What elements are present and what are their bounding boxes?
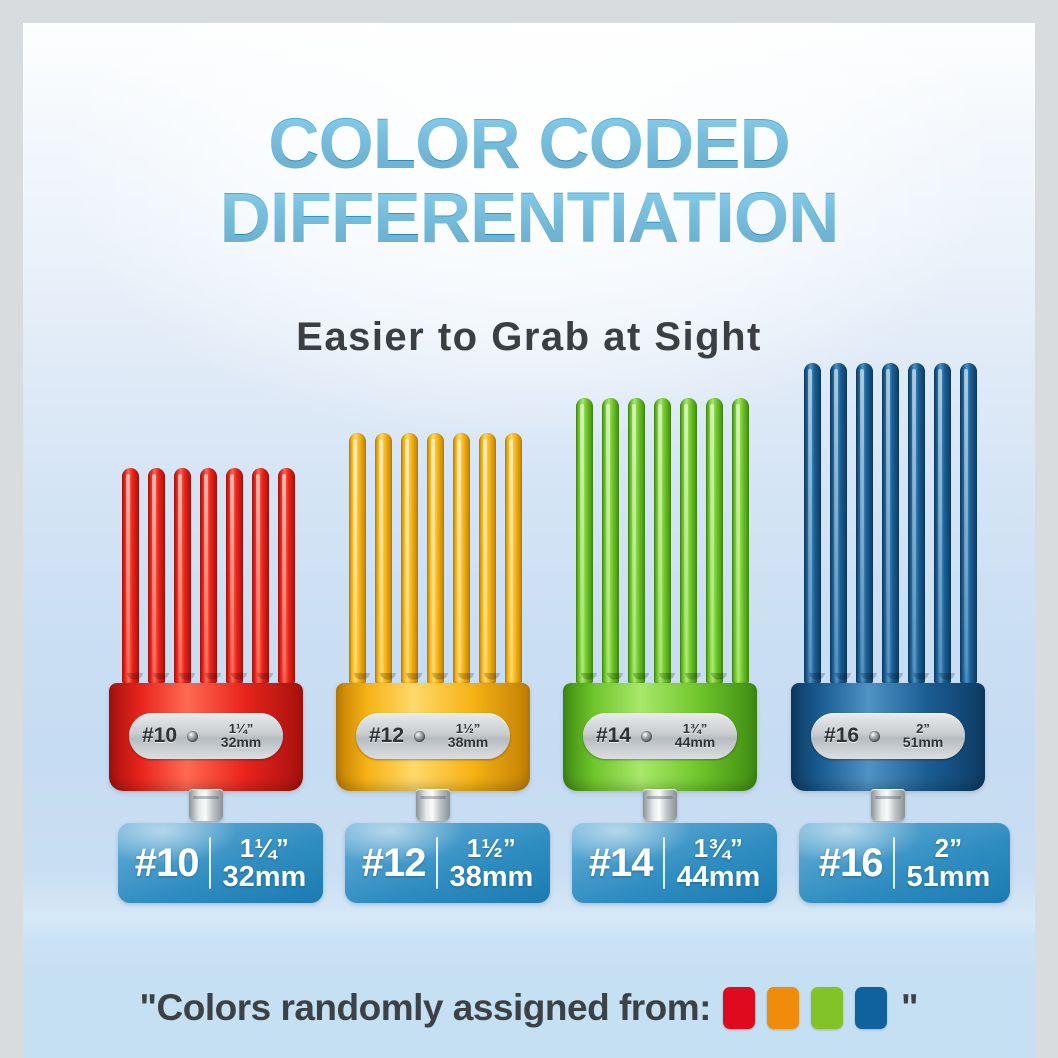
headline-line-2: DIFFERENTIATION [23, 185, 1035, 253]
badge-size-mm: 32mm [222, 863, 306, 892]
comb-tooth [856, 363, 873, 683]
comb-lineup: #101¼”32mm#121½”38mm#141¾”44mm#162”51mm [23, 373, 1035, 823]
badge-divider [436, 837, 438, 889]
badge-size-inches: 1¼” [222, 835, 306, 861]
badge-number: #10 [135, 841, 199, 886]
badge-size-inches: 1¾” [676, 835, 760, 861]
product-feature-poster: COLOR CODED DIFFERENTIATION Easier to Gr… [23, 23, 1035, 1058]
comb-metal-clip [416, 789, 450, 821]
badge-size-mm: 44mm [676, 863, 760, 892]
rivet-icon [187, 731, 198, 742]
comb-tooth [200, 468, 217, 683]
comb-teeth [336, 433, 530, 683]
badge-size-inches: 1½” [449, 835, 533, 861]
comb-tooth [349, 433, 366, 683]
comb-tooth [908, 363, 925, 683]
badge-size-inches: 2” [906, 835, 990, 861]
rivet-icon [641, 731, 652, 742]
comb-tooth [576, 398, 593, 683]
plate-number: #10 [142, 724, 177, 748]
plate-size-inches: 2” [889, 722, 957, 735]
comb-teeth [109, 468, 303, 683]
comb-base-block: #162”51mm [791, 683, 985, 791]
comb-metal-clip [643, 789, 677, 821]
size-badge-12[interactable]: #121½”38mm [345, 823, 550, 903]
plate-size-inches: 1¾” [661, 722, 729, 735]
plate-size: 1¾”44mm [661, 722, 729, 750]
badge-number: #16 [819, 841, 883, 886]
comb-tooth [628, 398, 645, 683]
size-badge-16[interactable]: #162”51mm [799, 823, 1010, 903]
comb-tooth [148, 468, 165, 683]
plate-size: 1¼”32mm [207, 722, 275, 750]
comb-metal-clip [871, 789, 905, 821]
comb-tooth [804, 363, 821, 683]
comb-tooth [602, 398, 619, 683]
comb-metal-clip [189, 789, 223, 821]
comb-tooth [401, 433, 418, 683]
badge-size: 1½”38mm [449, 835, 533, 892]
comb-base-block: #121½”38mm [336, 683, 530, 791]
size-badge-row: #101¼”32mm#121½”38mm#141¾”44mm#162”51mm [23, 823, 1035, 913]
badge-size-mm: 38mm [449, 863, 533, 892]
comb-metal-plate: #101¼”32mm [129, 713, 283, 759]
badge-number: #14 [589, 841, 653, 886]
rivet-icon [414, 731, 425, 742]
comb-tooth [479, 433, 496, 683]
plate-number: #12 [369, 724, 404, 748]
plate-number: #14 [596, 724, 631, 748]
comb-tooth [960, 363, 977, 683]
plate-size-mm: 51mm [889, 735, 957, 749]
comb-teeth [791, 363, 985, 683]
plate-size-inches: 1½” [434, 722, 502, 735]
comb-tooth [278, 468, 295, 683]
comb-base-block: #141¾”44mm [563, 683, 757, 791]
plate-size-inches: 1¼” [207, 722, 275, 735]
badge-size: 2”51mm [906, 835, 990, 892]
comb-tooth [252, 468, 269, 683]
plate-number: #16 [824, 724, 859, 748]
size-badge-10[interactable]: #101¼”32mm [118, 823, 323, 903]
swatch-blue [855, 987, 887, 1029]
comb-metal-plate: #121½”38mm [356, 713, 510, 759]
comb-tooth [732, 398, 749, 683]
subheading: Easier to Grab at Sight [23, 315, 1035, 360]
plate-size: 2”51mm [889, 722, 957, 750]
badge-divider [893, 837, 895, 889]
disclaimer-text: "Colors randomly assigned from: [139, 987, 711, 1029]
comb-tooth [226, 468, 243, 683]
plate-size-mm: 38mm [434, 735, 502, 749]
swatch-orange [767, 987, 799, 1029]
headline-line-1: COLOR CODED [23, 111, 1035, 179]
badge-size: 1¾”44mm [676, 835, 760, 892]
comb-tooth [654, 398, 671, 683]
color-disclaimer: "Colors randomly assigned from: " [23, 978, 1035, 1038]
swatch-list [723, 987, 899, 1029]
comb-metal-plate: #141¾”44mm [583, 713, 737, 759]
page-title: COLOR CODED DIFFERENTIATION [23, 111, 1035, 253]
blue-comb: #162”51mm [791, 363, 985, 791]
badge-size-mm: 51mm [906, 863, 990, 892]
yellow-comb: #121½”38mm [336, 433, 530, 791]
comb-tooth [427, 433, 444, 683]
badge-size: 1¼”32mm [222, 835, 306, 892]
comb-body: #101¼”32mm [109, 468, 303, 791]
green-comb: #141¾”44mm [563, 398, 757, 791]
comb-base-block: #101¼”32mm [109, 683, 303, 791]
comb-tooth [706, 398, 723, 683]
comb-tooth [830, 363, 847, 683]
comb-teeth [563, 398, 757, 683]
badge-divider [663, 837, 665, 889]
comb-body: #162”51mm [791, 363, 985, 791]
badge-divider [209, 837, 211, 889]
closing-quote: " [901, 987, 919, 1029]
comb-tooth [122, 468, 139, 683]
comb-body: #141¾”44mm [563, 398, 757, 791]
plate-size: 1½”38mm [434, 722, 502, 750]
comb-tooth [174, 468, 191, 683]
red-comb: #101¼”32mm [109, 468, 303, 791]
plate-size-mm: 32mm [207, 735, 275, 749]
comb-tooth [934, 363, 951, 683]
rivet-icon [869, 731, 880, 742]
plate-size-mm: 44mm [661, 735, 729, 749]
comb-body: #121½”38mm [336, 433, 530, 791]
swatch-green [811, 987, 843, 1029]
comb-tooth [375, 433, 392, 683]
comb-metal-plate: #162”51mm [811, 713, 965, 759]
comb-tooth [680, 398, 697, 683]
comb-tooth [453, 433, 470, 683]
size-badge-14[interactable]: #141¾”44mm [572, 823, 777, 903]
comb-tooth [882, 363, 899, 683]
comb-tooth [505, 433, 522, 683]
badge-number: #12 [362, 841, 426, 886]
swatch-red [723, 987, 755, 1029]
